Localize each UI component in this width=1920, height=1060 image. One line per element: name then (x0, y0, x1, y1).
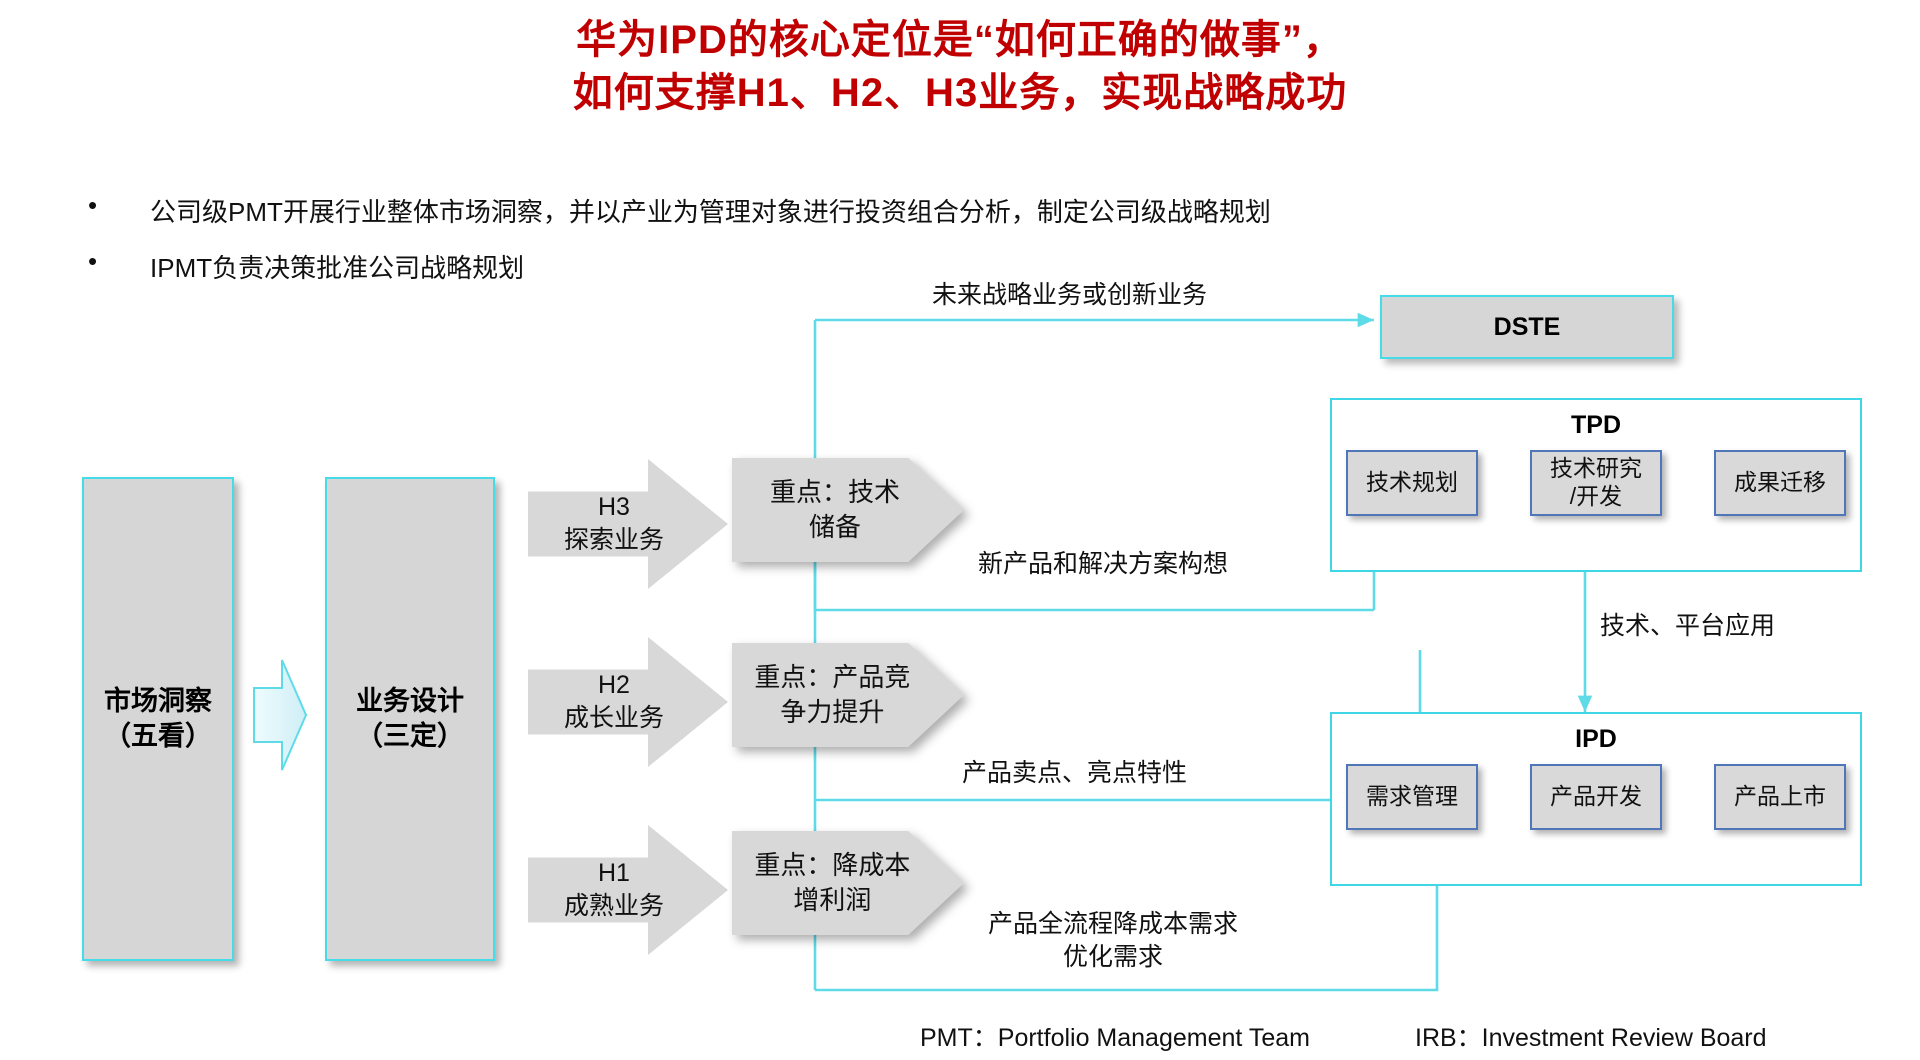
slide-canvas: 华为IPD的核心定位是“如何正确的做事”， 如何支撑H1、H2、H3业务，实现战… (0, 0, 1920, 1060)
dste-label: DSTE (1494, 313, 1561, 342)
focus-line2: 储备 (770, 510, 900, 545)
tpd-item-line1: 技术研究 (1550, 455, 1642, 483)
dste-box[interactable]: DSTE (1380, 295, 1674, 359)
focus-line1: 重点：产品竞 (754, 660, 910, 695)
horizon-name: 成熟业务 (564, 890, 664, 924)
tpd-title: TPD (1332, 411, 1860, 440)
stage-market-insight[interactable]: 市场洞察 （五看） (82, 477, 234, 961)
focus-line2: 争力提升 (754, 695, 910, 730)
flow-label-tech-platform: 技术、平台应用 (1600, 610, 1775, 643)
flow-label-cost-line2: 优化需求 (988, 941, 1238, 974)
horizon-name: 探索业务 (564, 524, 664, 558)
flow-label-cost-reduction: 产品全流程降成本需求 优化需求 (988, 908, 1238, 973)
tpd-item-line2: /开发 (1550, 483, 1642, 511)
focus-pentagon-h3[interactable]: 重点：技术 储备 (732, 458, 964, 562)
stage-title-line1: 业务设计 (356, 684, 464, 719)
focus-pentagon-h1[interactable]: 重点：降成本 增利润 (732, 831, 964, 935)
flow-label-new-product: 新产品和解决方案构想 (978, 548, 1228, 581)
focus-line2: 增利润 (754, 883, 910, 918)
ipd-items-row: 需求管理 产品开发 产品上市 (1332, 764, 1860, 830)
horizon-code: H3 (564, 491, 664, 525)
ipd-item-product-launch[interactable]: 产品上市 (1714, 764, 1846, 830)
horizon-code: H2 (564, 669, 664, 703)
flow-label-cost-line1: 产品全流程降成本需求 (988, 908, 1238, 941)
tpd-item-line1: 技术规划 (1366, 469, 1458, 497)
flow-label-to-dste: 未来战略业务或创新业务 (932, 279, 1207, 312)
tpd-item-line1: 成果迁移 (1734, 469, 1826, 497)
stage-title-line2: （五看） (104, 719, 212, 754)
horizon-code: H1 (564, 857, 664, 891)
focus-line1: 重点：降成本 (754, 848, 910, 883)
ipd-panel[interactable]: IPD 需求管理 产品开发 产品上市 (1330, 712, 1862, 886)
ipd-item-requirement-mgmt[interactable]: 需求管理 (1346, 764, 1478, 830)
stage-title-line1: 市场洞察 (104, 684, 212, 719)
stage-transition-arrow-icon (252, 650, 308, 780)
ipd-item-line1: 产品开发 (1550, 783, 1642, 811)
tpd-item-tech-planning[interactable]: 技术规划 (1346, 450, 1478, 516)
focus-pentagon-h2[interactable]: 重点：产品竞 争力提升 (732, 643, 964, 747)
tpd-panel[interactable]: TPD 技术规划 技术研究 /开发 成果迁移 (1330, 398, 1862, 572)
horizon-name: 成长业务 (564, 702, 664, 736)
ipd-item-product-dev[interactable]: 产品开发 (1530, 764, 1662, 830)
ipd-item-line1: 产品上市 (1734, 783, 1826, 811)
ipd-item-line1: 需求管理 (1366, 783, 1458, 811)
focus-line1: 重点：技术 (770, 475, 900, 510)
footnote-pmt: PMT：Portfolio Management Team (920, 1018, 1310, 1054)
tpd-item-tech-research[interactable]: 技术研究 /开发 (1530, 450, 1662, 516)
ipd-title: IPD (1332, 725, 1860, 754)
tpd-items-row: 技术规划 技术研究 /开发 成果迁移 (1332, 450, 1860, 516)
footnote-irb: IRB：Investment Review Board (1415, 1018, 1767, 1054)
tpd-item-result-transfer[interactable]: 成果迁移 (1714, 450, 1846, 516)
stage-business-design[interactable]: 业务设计 （三定） (325, 477, 495, 961)
flow-label-selling-points: 产品卖点、亮点特性 (962, 757, 1187, 790)
stage-title-line2: （三定） (356, 719, 464, 754)
